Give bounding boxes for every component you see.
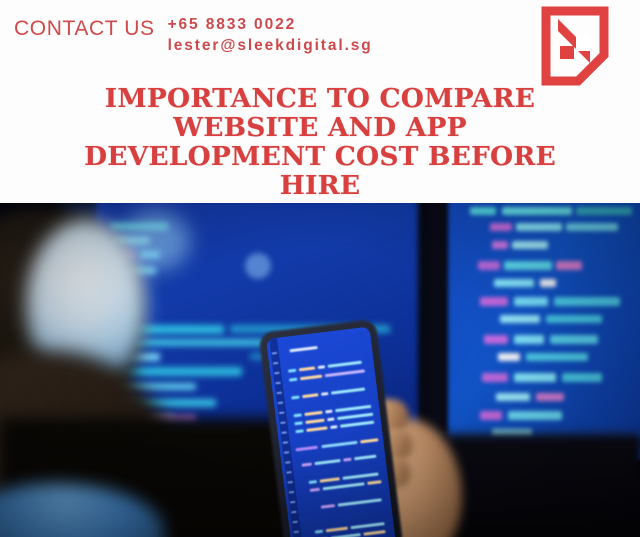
bokeh-dot-monitor <box>245 253 271 279</box>
contact-email[interactable]: lester@sleekdigital.sg <box>168 35 373 56</box>
title-line-1: IMPORTANCE TO COMPARE <box>0 84 640 113</box>
contact-details: +65 8833 0022 lester@sleekdigital.sg <box>168 14 373 56</box>
title-line-2: WEBSITE AND APP <box>0 113 640 142</box>
sleek-digital-logo[interactable] <box>538 5 612 87</box>
contact-us-label: CONTACT US <box>14 12 155 46</box>
page-title: IMPORTANCE TO COMPARE WEBSITE AND APP DE… <box>0 84 640 200</box>
contact-phone[interactable]: +65 8833 0022 <box>168 14 373 35</box>
hero-photo <box>0 203 640 537</box>
header-banner: CONTACT US +65 8833 0022 lester@sleekdig… <box>0 0 640 203</box>
title-line-3: DEVELOPMENT COST BEFORE <box>0 142 640 171</box>
contact-block: CONTACT US +65 8833 0022 lester@sleekdig… <box>14 12 373 56</box>
title-line-4: HIRE <box>0 171 640 200</box>
